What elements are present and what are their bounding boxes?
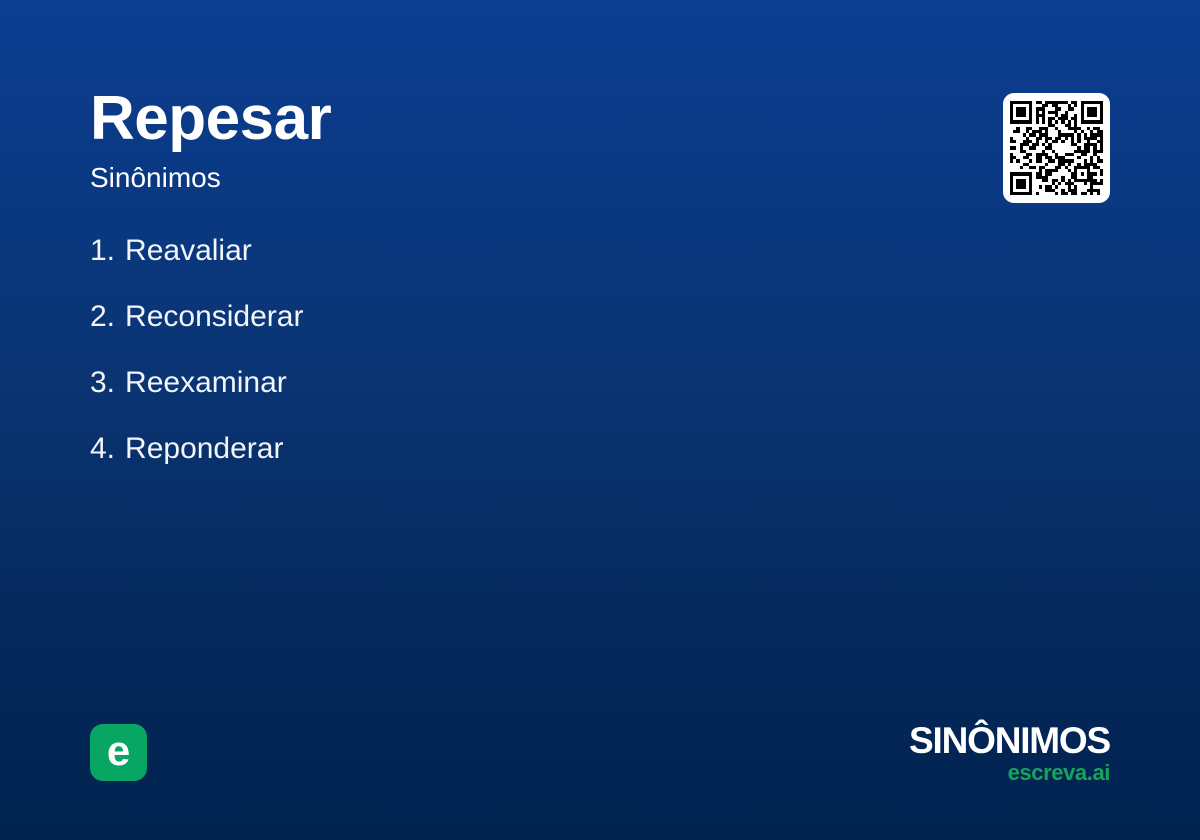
brand-logo: SINÔNIMOS escreva.ai: [790, 722, 1110, 784]
list-item-label: Reponderar: [125, 434, 283, 464]
qr-code[interactable]: [1003, 93, 1110, 203]
synonym-list: 1. Reavaliar 2. Reconsiderar 3. Reexamin…: [90, 236, 850, 500]
brand-name: SINÔNIMOS: [790, 722, 1110, 759]
escreva-e-badge-icon: e: [90, 724, 147, 781]
list-item-label: Reavaliar: [125, 236, 252, 266]
qr-code-icon: [1010, 101, 1103, 195]
list-item: 2. Reconsiderar: [90, 302, 850, 368]
list-item-index: 1.: [90, 236, 115, 266]
header: Repesar Sinônimos: [90, 86, 790, 194]
list-item-label: Reexaminar: [125, 368, 287, 398]
list-item-index: 2.: [90, 302, 115, 332]
page-title: Repesar: [90, 86, 790, 153]
list-item: 1. Reavaliar: [90, 236, 850, 302]
list-item-index: 3.: [90, 368, 115, 398]
brand-domain: escreva.ai: [790, 762, 1110, 784]
list-item: 3. Reexaminar: [90, 368, 850, 434]
list-item: 4. Reponderar: [90, 434, 850, 500]
synonym-card: Repesar Sinônimos 1. Reavaliar 2. Recons…: [0, 0, 1200, 840]
list-item-label: Reconsiderar: [125, 302, 303, 332]
badge-letter: e: [107, 730, 130, 772]
list-item-index: 4.: [90, 434, 115, 464]
section-label: Sinônimos: [90, 163, 790, 194]
